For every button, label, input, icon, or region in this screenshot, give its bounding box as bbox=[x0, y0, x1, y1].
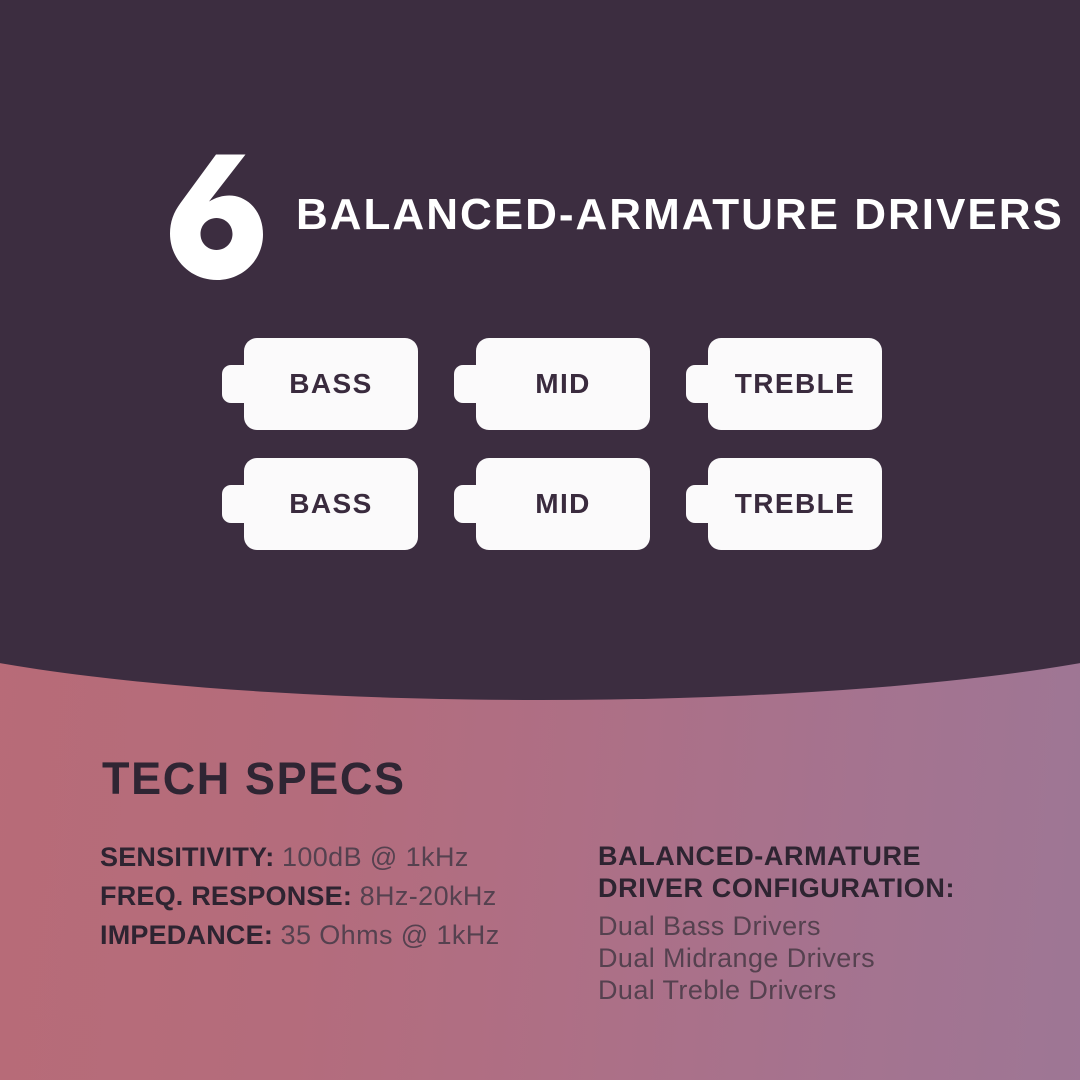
spec-key: FREQ. RESPONSE: bbox=[100, 881, 352, 911]
driver-chip-label: TREBLE bbox=[735, 490, 855, 518]
spec-row: FREQ. RESPONSE: 8Hz-20kHz bbox=[100, 877, 570, 916]
config-title-line-1: BALANCED-ARMATURE bbox=[598, 840, 1038, 872]
spec-value: 100dB @ 1kHz bbox=[282, 842, 469, 872]
spec-value: 8Hz-20kHz bbox=[360, 881, 497, 911]
config-list-item: Dual Midrange Drivers bbox=[598, 942, 1038, 974]
driver-chip-grid: BASS MID TREBLE BASS MID bbox=[222, 338, 882, 550]
battery-icon: MID bbox=[476, 458, 650, 550]
config-list-item: Dual Bass Drivers bbox=[598, 910, 1038, 942]
config-list-item: Dual Treble Drivers bbox=[598, 974, 1038, 1006]
battery-icon: MID bbox=[476, 338, 650, 430]
driver-chip-label: TREBLE bbox=[735, 370, 855, 398]
driver-chip-label: BASS bbox=[289, 490, 372, 518]
driver-configuration-column: BALANCED-ARMATURE DRIVER CONFIGURATION: … bbox=[598, 840, 1038, 1006]
spec-value: 35 Ohms @ 1kHz bbox=[281, 920, 500, 950]
header: BALANCED-ARMATURE DRIVERS bbox=[0, 152, 1080, 282]
infographic-poster: BALANCED-ARMATURE DRIVERS BASS MID TREBL… bbox=[0, 0, 1080, 1080]
page-title: BALANCED-ARMATURE DRIVERS bbox=[296, 193, 1064, 241]
tech-specs-left-column: SENSITIVITY: 100dB @ 1kHz FREQ. RESPONSE… bbox=[100, 838, 570, 955]
driver-chip-label: BASS bbox=[289, 370, 372, 398]
driver-chip: TREBLE bbox=[686, 458, 882, 550]
config-list: Dual Bass Drivers Dual Midrange Drivers … bbox=[598, 910, 1038, 1006]
driver-chip: TREBLE bbox=[686, 338, 882, 430]
config-title-line-2: DRIVER CONFIGURATION: bbox=[598, 872, 1038, 904]
tech-specs-title: TECH SPECS bbox=[102, 756, 406, 801]
driver-chip: BASS bbox=[222, 338, 418, 430]
spec-key: SENSITIVITY: bbox=[100, 842, 274, 872]
spec-key: IMPEDANCE: bbox=[100, 920, 273, 950]
battery-icon: TREBLE bbox=[708, 458, 882, 550]
battery-icon: BASS bbox=[244, 338, 418, 430]
battery-icon: BASS bbox=[244, 458, 418, 550]
numeral-six-icon bbox=[168, 153, 264, 281]
spec-row: IMPEDANCE: 35 Ohms @ 1kHz bbox=[100, 916, 570, 955]
driver-chip-label: MID bbox=[535, 490, 591, 518]
driver-chip: MID bbox=[454, 338, 650, 430]
battery-icon: TREBLE bbox=[708, 338, 882, 430]
driver-chip: BASS bbox=[222, 458, 418, 550]
spec-row: SENSITIVITY: 100dB @ 1kHz bbox=[100, 838, 570, 877]
driver-chip: MID bbox=[454, 458, 650, 550]
driver-chip-label: MID bbox=[535, 370, 591, 398]
